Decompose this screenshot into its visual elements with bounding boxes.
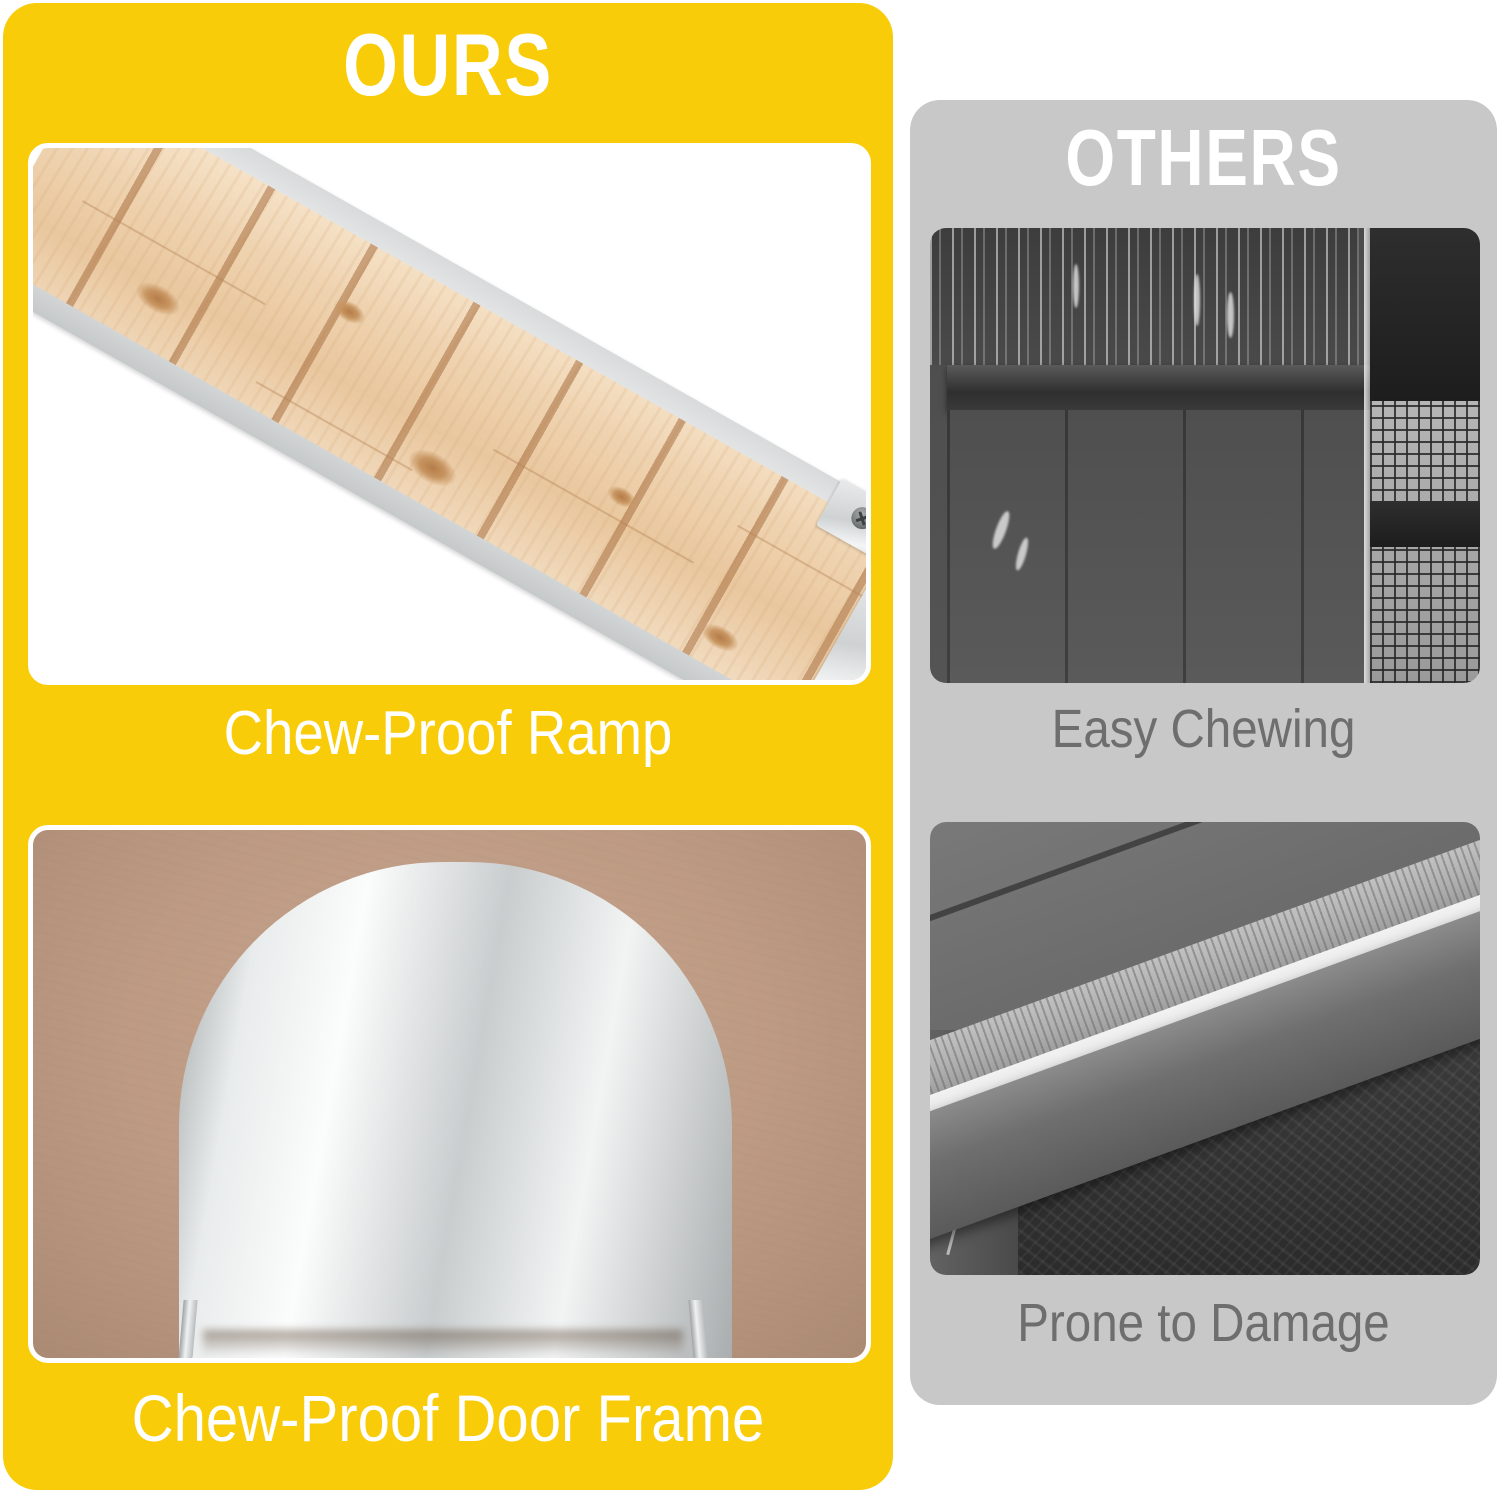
door-shadow: [203, 1330, 683, 1356]
door-frame-illustration: [33, 830, 866, 1358]
metal-arch-trim: [179, 862, 732, 1363]
chewed-top-board: [930, 228, 1359, 365]
others-title: OTHERS: [969, 118, 1439, 198]
ramp-board: [28, 143, 871, 685]
ours-caption-door-frame: Chew-Proof Door Frame: [56, 1385, 839, 1451]
others-caption-chewing: Easy Chewing: [945, 702, 1462, 756]
others-caption-damage: Prone to Damage: [945, 1296, 1462, 1350]
others-photo-chewed-wood: [930, 228, 1480, 683]
others-photo-damaged-board: [930, 822, 1480, 1275]
chewed-lower-panel: [947, 410, 1376, 683]
ours-caption-ramp: Chew-Proof Ramp: [56, 703, 839, 765]
ours-photo-ramp: [28, 143, 871, 685]
chewed-rail: [947, 365, 1376, 411]
ours-title: OURS: [92, 21, 804, 109]
ours-photo-door-frame: [28, 825, 871, 1363]
damaged-board-illustration: [930, 822, 1480, 1275]
ramp-illustration: [33, 148, 866, 680]
chewed-wood-illustration: [930, 228, 1480, 683]
ours-panel: OURS: [3, 3, 893, 1490]
ramp-wood-surface: [28, 143, 871, 685]
wire-mesh: [1370, 228, 1480, 683]
